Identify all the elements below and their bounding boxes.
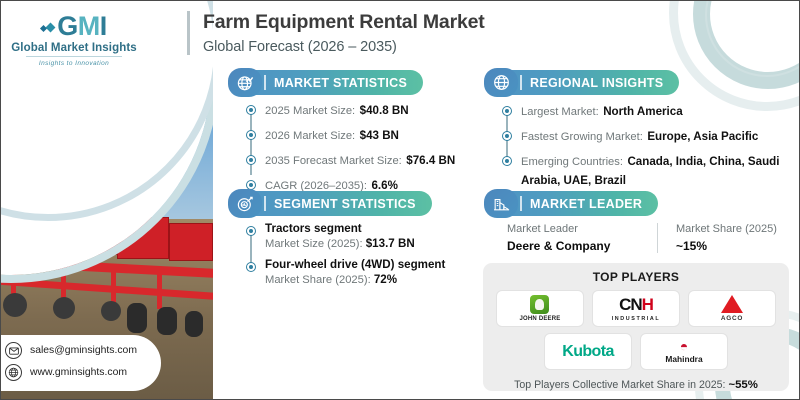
item-label: 2035 Forecast Market Size:: [265, 155, 402, 167]
cnh-logo: CNH INDUSTRIAL: [612, 296, 661, 322]
bullet-dot: [247, 156, 255, 164]
list-item: 2026 Market Size: $43 BN: [247, 126, 477, 144]
item-value: $43 BN: [360, 129, 399, 142]
title-block: Farm Equipment Rental Market Global Fore…: [187, 11, 485, 55]
item-value: Europe, Asia Pacific: [647, 130, 758, 143]
regional-insights-list: Largest Market: North America Fastest Gr…: [503, 102, 789, 197]
globe-icon: [484, 68, 518, 97]
page-title: Farm Equipment Rental Market: [203, 11, 485, 34]
bullet-dot: [503, 107, 511, 115]
logo-diamond-icon: [41, 18, 54, 36]
mahindra-logo: ◓ Mahindra: [665, 339, 702, 364]
logo-divider: [26, 56, 122, 57]
logo-company-name: Global Market Insights: [9, 42, 139, 54]
globe-chart-icon: [228, 68, 262, 97]
bullet-dot: [247, 106, 255, 114]
logo-text: CNH: [619, 296, 653, 313]
infographic-canvas: GMI Global Market Insights Insights to I…: [0, 0, 800, 400]
top-players-row-1: JOHN DEERE CNH INDUSTRIAL AGCO: [493, 290, 779, 327]
badge-market-leader: MARKET LEADER: [485, 191, 658, 216]
target-chart-icon: [228, 189, 262, 218]
logo-text: JOHN DEERE: [519, 316, 560, 322]
leader-value: Deere & Company: [507, 239, 639, 253]
bullet-dot: [503, 157, 511, 165]
john-deere-logo: JOHN DEERE: [519, 295, 560, 322]
logo-subtext: INDUSTRIAL: [612, 316, 661, 322]
decorative-ring-top-right-inner: [705, 0, 800, 77]
list-item: Tractors segment Market Size (2025): $13…: [247, 222, 477, 250]
segment-statistics-list: Tractors segment Market Size (2025): $13…: [247, 222, 477, 293]
factory-icon: [484, 189, 518, 218]
email-icon: [5, 342, 22, 359]
bullet-dot: [247, 131, 255, 139]
logo-tagline: Insights to Innovation: [9, 60, 139, 67]
list-item: Four-wheel drive (4WD) segment Market Sh…: [247, 258, 477, 286]
item-title: Tractors segment: [265, 222, 477, 235]
deer-icon: [530, 295, 549, 314]
top-players-heading: TOP PLAYERS: [493, 270, 779, 284]
logo-tile-agco: AGCO: [688, 290, 776, 327]
top-players-panel: TOP PLAYERS JOHN DEERE CNH INDUSTRIAL AG…: [483, 263, 789, 391]
bullet-dot: [247, 263, 255, 271]
item-label: 2026 Market Size:: [265, 130, 355, 142]
decorative-ring-top-right: [693, 0, 800, 89]
logo-text: Mahindra: [665, 354, 702, 364]
collective-label: Top Players Collective Market Share in 2…: [514, 379, 725, 391]
logo-tile-john-deere: JOHN DEERE: [496, 290, 584, 327]
badge-label: MARKET LEADER: [530, 197, 658, 211]
contact-website: www.gminsights.com: [30, 367, 127, 378]
logo-tile-mahindra: ◓ Mahindra: [640, 333, 728, 370]
bullet-dot: [503, 132, 511, 140]
bullet-dot: [247, 181, 255, 189]
item-title: Four-wheel drive (4WD) segment: [265, 258, 477, 271]
decorative-ring-top-right-outer: [669, 0, 800, 111]
logo-mark-row: GMI: [9, 13, 139, 40]
item-value: 72%: [374, 273, 397, 286]
logo-tile-kubota: Kubota: [544, 333, 632, 370]
contact-website-row[interactable]: www.gminsights.com: [5, 364, 161, 381]
badge-separator: [520, 75, 522, 90]
collective-share: Top Players Collective Market Share in 2…: [493, 379, 779, 391]
share-label: Market Share (2025): [676, 223, 777, 235]
item-label: 2025 Market Size:: [265, 105, 355, 117]
badge-regional-insights: REGIONAL INSIGHTS: [485, 70, 679, 95]
list-item: Fastest Growing Market: Europe, Asia Pac…: [503, 127, 789, 145]
badge-label: REGIONAL INSIGHTS: [530, 76, 679, 90]
contact-email: sales@gminsights.com: [30, 345, 137, 356]
share-value: ~15%: [676, 239, 777, 253]
market-statistics-list: 2025 Market Size: $40.8 BN 2026 Market S…: [247, 101, 477, 201]
list-item: Largest Market: North America: [503, 102, 789, 120]
item-label: Emerging Countries:: [521, 156, 623, 168]
share-column: Market Share (2025) ~15%: [657, 223, 795, 253]
item-value: North America: [603, 105, 682, 118]
agco-logo: AGCO: [721, 295, 743, 322]
item-label: Largest Market:: [521, 106, 599, 118]
badge-label: MARKET STATISTICS: [274, 76, 423, 90]
contact-email-row[interactable]: sales@gminsights.com: [5, 342, 161, 359]
logo-tile-cnh: CNH INDUSTRIAL: [592, 290, 680, 327]
collective-value: ~55%: [728, 379, 757, 391]
badge-separator: [264, 196, 266, 211]
item-value: $40.8 BN: [360, 104, 409, 117]
list-item: 2035 Forecast Market Size: $76.4 BN: [247, 151, 477, 169]
list-item: 2025 Market Size: $40.8 BN: [247, 101, 477, 119]
top-players-row-2: Kubota ◓ Mahindra: [493, 333, 779, 370]
logo-text: AGCO: [721, 315, 743, 322]
badge-segment-statistics: SEGMENT STATISTICS: [229, 191, 432, 216]
logo-text: GMI: [57, 13, 107, 40]
contact-panel: sales@gminsights.com www.gminsights.com: [0, 335, 161, 391]
item-label: Market Size (2025):: [265, 238, 363, 250]
leader-label: Market Leader: [507, 223, 639, 235]
gmi-logo: GMI Global Market Insights Insights to I…: [9, 13, 139, 75]
page-subtitle: Global Forecast (2026 – 2035): [203, 39, 485, 55]
item-label: Market Share (2025):: [265, 274, 371, 286]
item-value: $13.7 BN: [366, 237, 415, 250]
bullet-dot: [247, 227, 255, 235]
globe-icon: [5, 364, 22, 381]
list-item: Emerging Countries: Canada, India, China…: [503, 152, 789, 190]
mahindra-mark-icon: ◓: [665, 339, 702, 353]
item-label: Fastest Growing Market:: [521, 131, 643, 143]
badge-label: SEGMENT STATISTICS: [274, 197, 432, 211]
badge-separator: [520, 196, 522, 211]
leader-column: Market Leader Deere & Company: [507, 223, 657, 253]
item-value: $76.4 BN: [406, 154, 455, 167]
item-detail: Market Share (2025): 72%: [265, 273, 477, 286]
triangle-icon: [721, 295, 743, 313]
badge-market-statistics: MARKET STATISTICS: [229, 70, 423, 95]
market-leader-details: Market Leader Deere & Company Market Sha…: [507, 223, 795, 253]
item-detail: Market Size (2025): $13.7 BN: [265, 237, 477, 250]
badge-separator: [264, 75, 266, 90]
logo-text: Kubota: [562, 343, 614, 361]
